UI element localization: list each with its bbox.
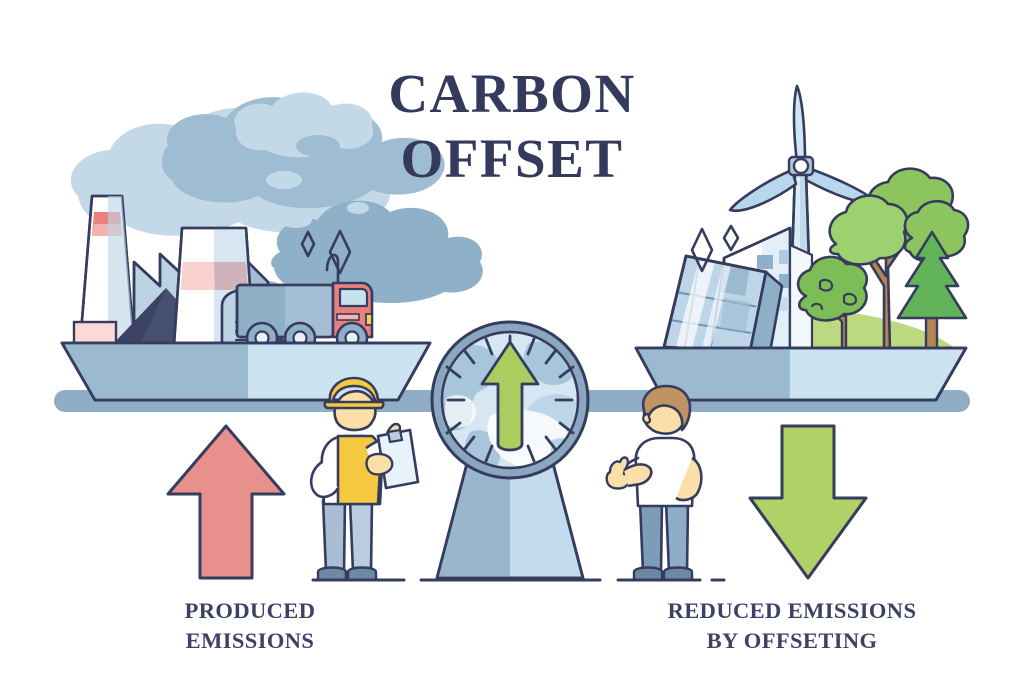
smokestack-tall bbox=[74, 196, 134, 346]
infographic-canvas: CARBON OFFSET PRODUCED EMISSIONS REDUCED… bbox=[0, 0, 1024, 683]
happy-person bbox=[607, 386, 702, 580]
artwork-layer bbox=[0, 0, 1024, 683]
smoke-puff bbox=[347, 202, 369, 214]
turbine-blade bbox=[794, 86, 805, 162]
person-ear bbox=[643, 414, 650, 423]
worker-hand-holding bbox=[367, 454, 393, 474]
clipboard-clip bbox=[388, 430, 402, 442]
solar-panel bbox=[664, 256, 782, 358]
worker-shoe bbox=[318, 568, 346, 581]
smoke-puff bbox=[296, 135, 340, 157]
worker-shoe bbox=[348, 568, 376, 581]
down-arrow bbox=[750, 426, 866, 578]
smoke-puff bbox=[280, 212, 312, 228]
turbine-hub bbox=[794, 159, 808, 173]
tree-canopy bbox=[830, 196, 907, 265]
person-leg bbox=[666, 502, 688, 572]
worker-leg bbox=[350, 500, 372, 572]
truck-headlight bbox=[366, 314, 372, 325]
person-shoe bbox=[664, 568, 692, 581]
worker-hard-hat-brim bbox=[325, 402, 384, 408]
person-shoe bbox=[634, 568, 662, 581]
turbine-blade bbox=[730, 170, 796, 211]
worker-head bbox=[335, 391, 376, 430]
person-leg bbox=[640, 502, 662, 572]
smoke-cloud-group bbox=[71, 93, 483, 304]
up-arrow bbox=[168, 426, 284, 578]
truck-grille bbox=[337, 314, 359, 320]
truck-window bbox=[340, 289, 367, 306]
worker-leg bbox=[323, 500, 345, 572]
globe-gauge bbox=[432, 322, 588, 478]
smoke-puff bbox=[266, 171, 302, 189]
